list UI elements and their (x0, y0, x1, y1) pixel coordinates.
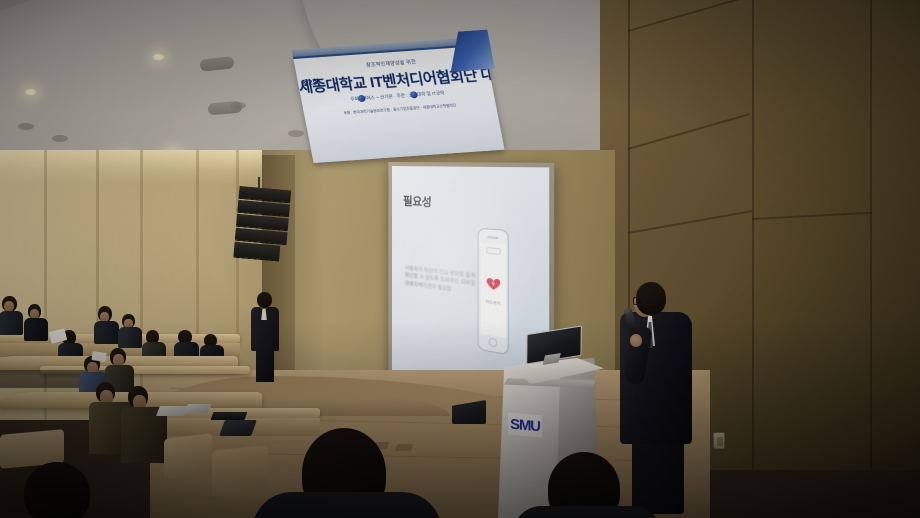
recessed-fixture (288, 130, 304, 137)
wall-seam (628, 210, 752, 234)
audience-member (98, 306, 120, 342)
open-notebook (156, 406, 188, 416)
phone-speaker-icon (487, 236, 498, 239)
downlight-icon (152, 53, 165, 61)
audience-torso (24, 318, 48, 341)
audience-torso (118, 327, 142, 348)
recessed-fixture (18, 123, 34, 130)
audience-member (122, 314, 144, 346)
downlight-icon (24, 88, 37, 96)
presenter-legs (632, 432, 684, 514)
banner-issue: 제2회 (301, 77, 320, 88)
paper-handout (91, 351, 106, 362)
phone-status-bar (486, 247, 500, 255)
audience-torso (94, 321, 119, 344)
recessed-fixture (52, 135, 68, 142)
chair (212, 445, 268, 497)
eyeglasses-icon (633, 297, 655, 303)
presenter (612, 282, 718, 512)
smu-logo-text: SMU (510, 415, 540, 435)
slide-title: 필요성 (403, 192, 431, 210)
presenter-hand (630, 334, 642, 347)
wall-seam (628, 113, 750, 150)
standing-attendee (248, 292, 282, 380)
foreground-head (24, 462, 90, 518)
floor-inlay (395, 444, 413, 451)
conference-banner: 창조적인재양성을 위한 세종대학교 IT벤처디어협회단 대학생 학술발표대회 제… (293, 44, 505, 163)
chair (164, 433, 212, 479)
phone-home-button-icon (488, 337, 497, 347)
heart-logo-icon (485, 274, 502, 293)
phone-screen: 하트케어 (480, 242, 506, 338)
foreground-shoulders (252, 492, 442, 518)
speaker-module (233, 242, 280, 262)
wall-seam (752, 212, 872, 220)
attendee-hair (257, 292, 272, 308)
line-array-speaker (233, 186, 292, 268)
app-name-label: 하트케어 (486, 298, 501, 306)
audience-member (28, 304, 50, 340)
wall-seam (752, 0, 754, 470)
smu-logo: SMU (508, 413, 542, 438)
audience-torso (0, 311, 23, 335)
conference-photo: 창조적인재양성을 위한 세종대학교 IT벤처디어협회단 대학생 학술발표대회 제… (0, 0, 920, 518)
foreground-shoulders (512, 506, 662, 518)
audience-member (2, 296, 24, 336)
wall-seam (140, 150, 143, 420)
laptop (211, 412, 248, 420)
slide-body-text: 사용자가 자신의 건강 정보를 쉽게 확인할 수 있도록 도와주는 모바일 애플… (405, 265, 480, 297)
wall-uplight (0, 150, 262, 184)
phone-mockup: 하트케어 (478, 228, 509, 356)
attendee-legs (256, 348, 274, 382)
bag (219, 420, 257, 436)
wall-seam (870, 0, 872, 470)
open-notebook (184, 404, 212, 413)
wall-seam (628, 0, 752, 32)
